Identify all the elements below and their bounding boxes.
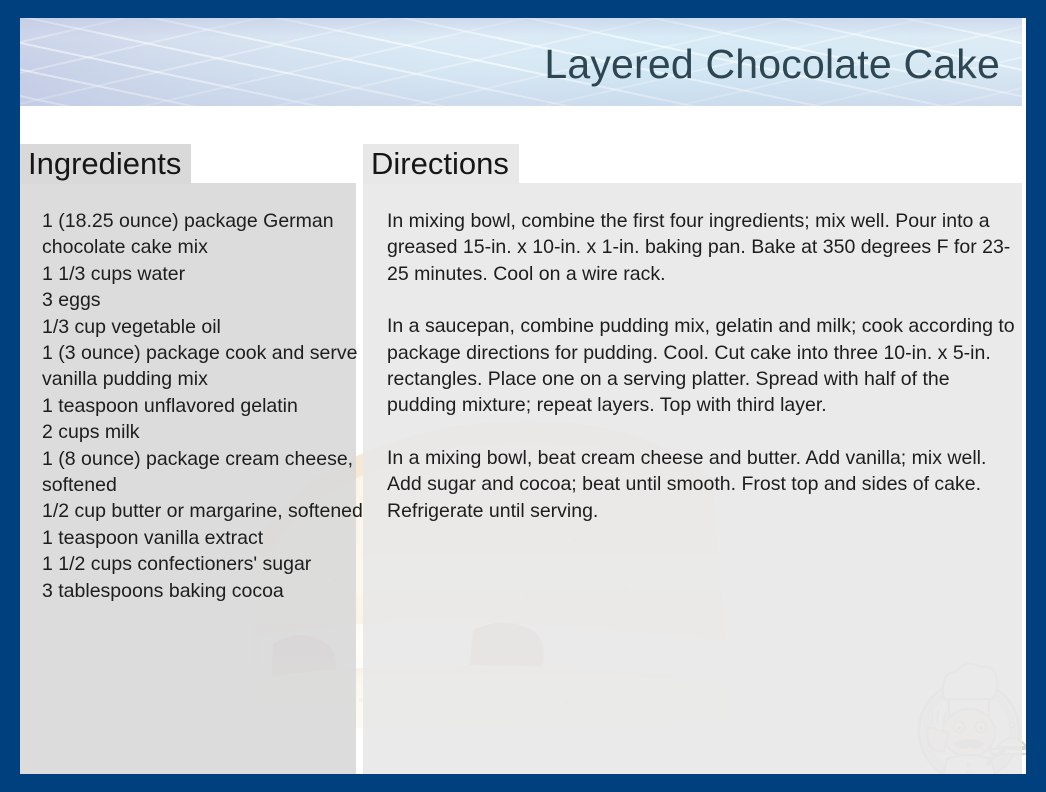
ingredient-item: 1 (3 ounce) package cook and serve vanil…: [42, 340, 372, 393]
ingredients-heading-label: Ingredients: [28, 146, 181, 182]
direction-step: In a mixing bowl, beat cream cheese and …: [387, 445, 1017, 524]
ingredients-heading: Ingredients: [20, 144, 191, 184]
ingredient-item: 3 eggs: [42, 287, 372, 313]
ingredient-item: 3 tablespoons baking cocoa: [42, 578, 372, 604]
recipe-card: Layered Chocolate Cake: [0, 0, 1046, 792]
ingredient-item: 1 teaspoon unflavored gelatin: [42, 393, 372, 419]
ingredient-item: 1/3 cup vegetable oil: [42, 314, 372, 340]
card-inner-frame: Layered Chocolate Cake: [20, 18, 1026, 774]
ingredient-item: 1 (18.25 ounce) package German chocolate…: [42, 208, 372, 261]
directions-list: In mixing bowl, combine the first four i…: [387, 208, 1017, 524]
ingredient-item: 2 cups milk: [42, 419, 372, 445]
direction-step: In mixing bowl, combine the first four i…: [387, 208, 1017, 287]
directions-heading: Directions: [363, 144, 519, 184]
directions-heading-label: Directions: [371, 146, 509, 182]
ingredient-item: 1 1/2 cups confectioners' sugar: [42, 551, 372, 577]
ingredients-list: 1 (18.25 ounce) package German chocolate…: [42, 208, 372, 604]
ingredient-item: 1/2 cup butter or margarine, softened: [42, 498, 372, 524]
ingredient-item: 1 1/3 cups water: [42, 261, 372, 287]
ingredient-item: 1 teaspoon vanilla extract: [42, 525, 372, 551]
ingredient-item: 1 (8 ounce) package cream cheese, soften…: [42, 446, 372, 499]
header-banner: Layered Chocolate Cake: [20, 18, 1022, 106]
page-title: Layered Chocolate Cake: [544, 40, 1000, 88]
direction-step: In a saucepan, combine pudding mix, gela…: [387, 313, 1017, 419]
